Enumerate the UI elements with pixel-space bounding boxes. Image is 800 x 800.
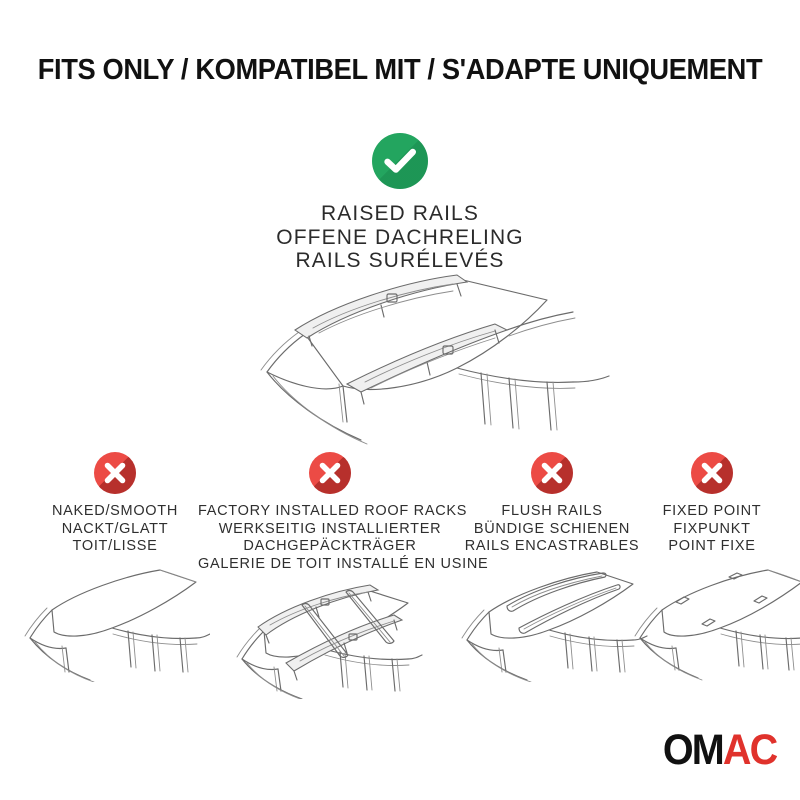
check-badge — [372, 133, 428, 189]
label-fr: GALERIE DE TOIT INSTALLÉ EN USINE — [198, 556, 462, 574]
incompatible-item-fixed-point: FIXED POINT FIXPUNKT POINT FIXE — [632, 452, 792, 687]
compatible-labels: RAISED RAILS OFFENE DACHRELING RAILS SUR… — [0, 202, 800, 273]
label-de: FIXPUNKT — [632, 521, 792, 539]
cross-icon — [309, 452, 351, 494]
incompatible-labels: NAKED/SMOOTH NACKT/GLATT TOIT/LISSE — [10, 503, 220, 556]
cross-icon — [691, 452, 733, 494]
incompatible-labels: FACTORY INSTALLED ROOF RACKS WERKSEITIG … — [198, 503, 462, 573]
label-en: FLUSH RAILS — [452, 503, 652, 521]
compatible-label-de: OFFENE DACHRELING — [0, 226, 800, 250]
illustration-flush-rails — [452, 562, 652, 687]
incompatible-labels: FIXED POINT FIXPUNKT POINT FIXE — [632, 503, 792, 556]
logo-text-red: AC — [723, 726, 776, 774]
incompatible-item-naked: NAKED/SMOOTH NACKT/GLATT TOIT/LISSE — [10, 452, 220, 687]
label-de: NACKT/GLATT — [10, 521, 220, 539]
page-title: FITS ONLY / KOMPATIBEL MIT / S'ADAPTE UN… — [24, 54, 776, 87]
compatible-label-en: RAISED RAILS — [0, 202, 800, 226]
logo-text-dark: OM — [662, 726, 722, 774]
incompatible-item-factory-rack: FACTORY INSTALLED ROOF RACKS WERKSEITIG … — [198, 452, 462, 704]
incompatible-labels: FLUSH RAILS BÜNDIGE SCHIENEN RAILS ENCAS… — [452, 503, 652, 556]
compatible-section: RAISED RAILS OFFENE DACHRELING RAILS SUR… — [0, 133, 800, 273]
label-fr: TOIT/LISSE — [10, 538, 220, 556]
illustration-raised-rails — [195, 272, 615, 452]
label-en: FACTORY INSTALLED ROOF RACKS — [198, 503, 462, 521]
compatible-label-fr: RAILS SURÉLEVÉS — [0, 249, 800, 273]
check-icon — [372, 133, 428, 189]
label-de: BÜNDIGE SCHIENEN — [452, 521, 652, 539]
illustration-naked-roof — [10, 562, 220, 687]
illustration-factory-rack — [198, 579, 462, 704]
incompatible-section: NAKED/SMOOTH NACKT/GLATT TOIT/LISSE — [0, 452, 800, 692]
cross-icon — [531, 452, 573, 494]
omac-logo: OMAC — [662, 729, 776, 772]
incompatible-item-flush-rails: FLUSH RAILS BÜNDIGE SCHIENEN RAILS ENCAS… — [452, 452, 652, 687]
label-fr: POINT FIXE — [632, 538, 792, 556]
label-fr: RAILS ENCASTRABLES — [452, 538, 652, 556]
label-de-1: WERKSEITIG INSTALLIERTER — [198, 521, 462, 539]
cross-badge — [94, 452, 136, 494]
cross-badge — [309, 452, 351, 494]
cross-badge — [531, 452, 573, 494]
illustration-fixed-point — [632, 562, 792, 687]
label-en: FIXED POINT — [632, 503, 792, 521]
label-de-2: DACHGEPÄCKTRÄGER — [198, 538, 462, 556]
label-en: NAKED/SMOOTH — [10, 503, 220, 521]
cross-icon — [94, 452, 136, 494]
cross-badge — [691, 452, 733, 494]
